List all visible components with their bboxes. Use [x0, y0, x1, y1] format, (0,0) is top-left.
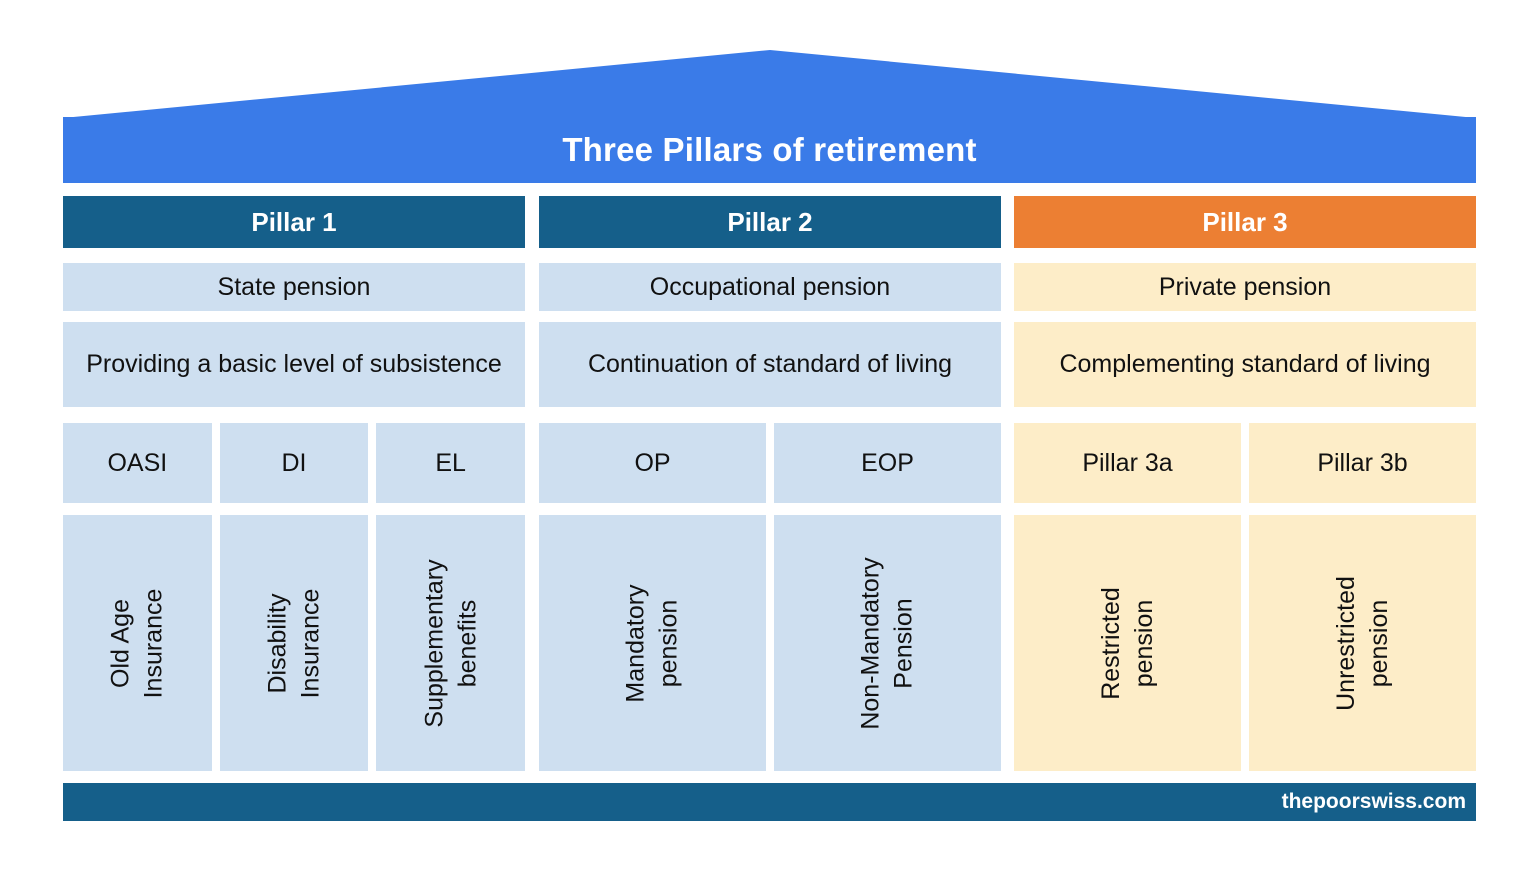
pillar-3-sub-detail-row: Restricted pension Unrestricted pension	[1014, 515, 1476, 771]
pillar-3-sub-detail-3b: Unrestricted pension	[1249, 515, 1476, 771]
pillar-2-sub-detail-row: Mandatory pension Non-Mandatory Pension	[539, 515, 1001, 771]
pillar-3-description: Complementing standard of living	[1014, 322, 1476, 407]
pillar-2-sub-detail-eop-text: Non-Mandatory Pension	[855, 557, 920, 729]
pillar-1-sub-detail-oasi-text: Old Age Insurance	[105, 588, 170, 698]
pillar-1-sub-detail-oasi: Old Age Insurance	[63, 515, 212, 771]
diagram-title-bar: Three Pillars of retirement	[63, 117, 1476, 183]
pillar-3-sub-label-3b: Pillar 3b	[1249, 423, 1476, 503]
pillar-2-sub-detail-op-text: Mandatory pension	[620, 584, 685, 702]
pillar-column-1: Pillar 1 State pension Providing a basic…	[63, 196, 525, 771]
pillar-1-sub-label-el: EL	[376, 423, 525, 503]
pillar-1-sub-label-di: DI	[220, 423, 369, 503]
diagram-title: Three Pillars of retirement	[562, 131, 976, 169]
pillar-1-sub-detail-el: Supplementary benefits	[376, 515, 525, 771]
pillar-1-header: Pillar 1	[63, 196, 525, 248]
pillar-1-subtitle: State pension	[63, 263, 525, 311]
pillar-2-sub-label-op: OP	[539, 423, 766, 503]
pillar-3-sub-detail-3a-text: Restricted pension	[1095, 587, 1160, 700]
pillar-2-sub-detail-op: Mandatory pension	[539, 515, 766, 771]
pillar-column-3: Pillar 3 Private pension Complementing s…	[1014, 196, 1476, 771]
pillar-2-sub-label-row: OP EOP	[539, 423, 1001, 503]
pillar-1-sub-detail-di: Disability Insurance	[220, 515, 369, 771]
pillar-1-sub-detail-el-text: Supplementary benefits	[418, 559, 483, 727]
pillar-2-description: Continuation of standard of living	[539, 322, 1001, 407]
pillar-3-header: Pillar 3	[1014, 196, 1476, 248]
pillar-column-2: Pillar 2 Occupational pension Continuati…	[539, 196, 1001, 771]
pillar-1-sub-label-oasi: OASI	[63, 423, 212, 503]
pillar-3-subtitle: Private pension	[1014, 263, 1476, 311]
pillar-1-description: Providing a basic level of subsistence	[63, 322, 525, 407]
pillar-2-sub-label-eop: EOP	[774, 423, 1001, 503]
footer-bar: thepoorswiss.com	[63, 783, 1476, 821]
roof-pediment	[63, 50, 1476, 118]
pillar-2-header: Pillar 2	[539, 196, 1001, 248]
pillar-1-sub-label-row: OASI DI EL	[63, 423, 525, 503]
pillar-3-sub-label-row: Pillar 3a Pillar 3b	[1014, 423, 1476, 503]
pillar-1-sub-detail-row: Old Age Insurance Disability Insurance S…	[63, 515, 525, 771]
pillar-2-subtitle: Occupational pension	[539, 263, 1001, 311]
pillar-3-sub-detail-3a: Restricted pension	[1014, 515, 1241, 771]
pillar-3-sub-label-3a: Pillar 3a	[1014, 423, 1241, 503]
pillar-1-sub-detail-di-text: Disability Insurance	[262, 588, 327, 698]
three-pillars-diagram: Three Pillars of retirement Pillar 1 Sta…	[0, 0, 1536, 891]
pillar-3-sub-detail-3b-text: Unrestricted pension	[1330, 576, 1395, 711]
source-attribution: thepoorswiss.com	[1282, 790, 1476, 814]
pillar-2-sub-detail-eop: Non-Mandatory Pension	[774, 515, 1001, 771]
